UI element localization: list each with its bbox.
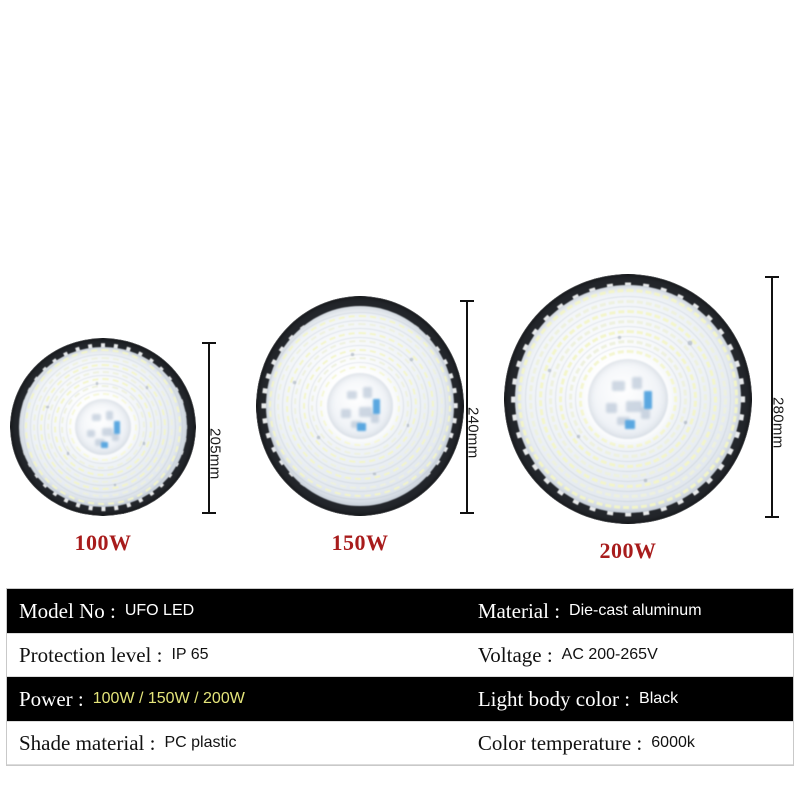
mounting-screw xyxy=(293,381,296,384)
watt-label-200w: 200W xyxy=(504,538,752,564)
mounting-screw xyxy=(143,442,145,444)
dimension-label-280mm: 280mm xyxy=(770,397,787,449)
driver-component xyxy=(612,381,625,391)
spec-cell-left: Power :100W / 150W / 200W xyxy=(7,677,478,721)
spec-value: 6000k xyxy=(651,734,695,752)
specification-table: Model No :UFO LEDMaterial :Die-cast alum… xyxy=(6,588,794,766)
blue-capacitor xyxy=(644,391,652,409)
mounting-screw xyxy=(688,341,691,344)
mounting-screw xyxy=(317,436,320,439)
led-face xyxy=(515,285,741,513)
watt-label-150w: 150W xyxy=(256,530,464,556)
driver-component xyxy=(347,391,358,399)
spec-row: Model No :UFO LEDMaterial :Die-cast alum… xyxy=(7,589,793,633)
driver-component xyxy=(371,413,379,423)
spec-label: Power : xyxy=(19,687,84,712)
spec-value: Black xyxy=(639,690,678,708)
spec-cell-left: Shade material :PC plastic xyxy=(7,722,478,764)
driver-component xyxy=(87,430,95,437)
ufo-led-high-bay-icon xyxy=(10,338,196,516)
lamp-group-100w: 100W xyxy=(10,338,210,578)
spec-cell-left: Protection level :IP 65 xyxy=(7,634,478,676)
spec-label: Light body color : xyxy=(478,687,630,712)
mounting-screw xyxy=(410,358,413,361)
mounting-screw xyxy=(407,424,410,427)
spec-cell-right: Voltage :AC 200-265V xyxy=(478,634,793,676)
spec-cell-left: Model No :UFO LED xyxy=(7,589,478,633)
driver-component xyxy=(359,407,372,416)
spec-row: Power :100W / 150W / 200WLight body colo… xyxy=(7,677,793,721)
lamp-group-200w: 200W xyxy=(504,274,764,578)
spec-value: IP 65 xyxy=(171,646,208,664)
mounting-screw xyxy=(67,452,69,454)
spec-label: Color temperature : xyxy=(478,731,642,756)
driver-component xyxy=(363,387,372,398)
spec-value: UFO LED xyxy=(125,602,194,620)
mounting-screw xyxy=(146,386,148,388)
driver-component xyxy=(106,411,113,420)
driver-component xyxy=(92,414,101,421)
product-spec-page: 100W 205mm 150W 240mm xyxy=(0,0,800,800)
blue-capacitor xyxy=(625,420,635,429)
spec-cell-right: Color temperature :6000k xyxy=(478,722,793,764)
blue-capacitor xyxy=(114,421,120,433)
spec-label: Shade material : xyxy=(19,731,155,756)
ufo-led-high-bay-icon xyxy=(256,296,464,516)
product-showcase: 100W 205mm 150W 240mm xyxy=(0,0,800,578)
mounting-screw xyxy=(46,406,48,408)
spec-value: 100W / 150W / 200W xyxy=(93,690,245,708)
spec-value: AC 200-265V xyxy=(562,646,658,664)
driver-component xyxy=(641,407,651,419)
mounting-screw xyxy=(577,435,580,438)
driver-component xyxy=(632,377,642,390)
dimension-callout-100w: 205mm xyxy=(202,342,262,514)
spec-label: Model No : xyxy=(19,599,116,624)
spec-cell-right: Light body color :Black xyxy=(478,677,793,721)
blue-capacitor xyxy=(101,442,108,448)
mounting-screw xyxy=(96,382,98,384)
lamp-group-150w: 150W xyxy=(256,296,476,578)
driver-component xyxy=(606,403,617,413)
watt-label-100w: 100W xyxy=(10,530,196,556)
driver-component xyxy=(341,409,350,418)
blue-capacitor xyxy=(357,423,366,430)
dimension-callout-200w: 280mm xyxy=(765,276,800,518)
blue-capacitor xyxy=(373,399,380,414)
spec-label: Voltage : xyxy=(478,643,553,668)
spec-label: Material : xyxy=(478,599,560,624)
driver-component xyxy=(112,433,119,442)
mounting-screw xyxy=(618,336,621,339)
spec-cell-right: Material :Die-cast aluminum xyxy=(478,589,793,633)
dimension-label-205mm: 205mm xyxy=(207,428,224,480)
spec-row: Shade material :PC plasticColor temperat… xyxy=(7,721,793,765)
spec-value: Die-cast aluminum xyxy=(569,602,701,620)
ufo-led-high-bay-icon xyxy=(504,274,752,524)
led-face xyxy=(266,306,454,506)
driver-hub xyxy=(588,359,668,439)
spec-value: PC plastic xyxy=(164,734,236,752)
spec-row: Protection level :IP 65Voltage :AC 200-2… xyxy=(7,633,793,677)
spec-label: Protection level : xyxy=(19,643,162,668)
led-face xyxy=(19,347,187,507)
dimension-label-240mm: 240mm xyxy=(465,407,482,459)
